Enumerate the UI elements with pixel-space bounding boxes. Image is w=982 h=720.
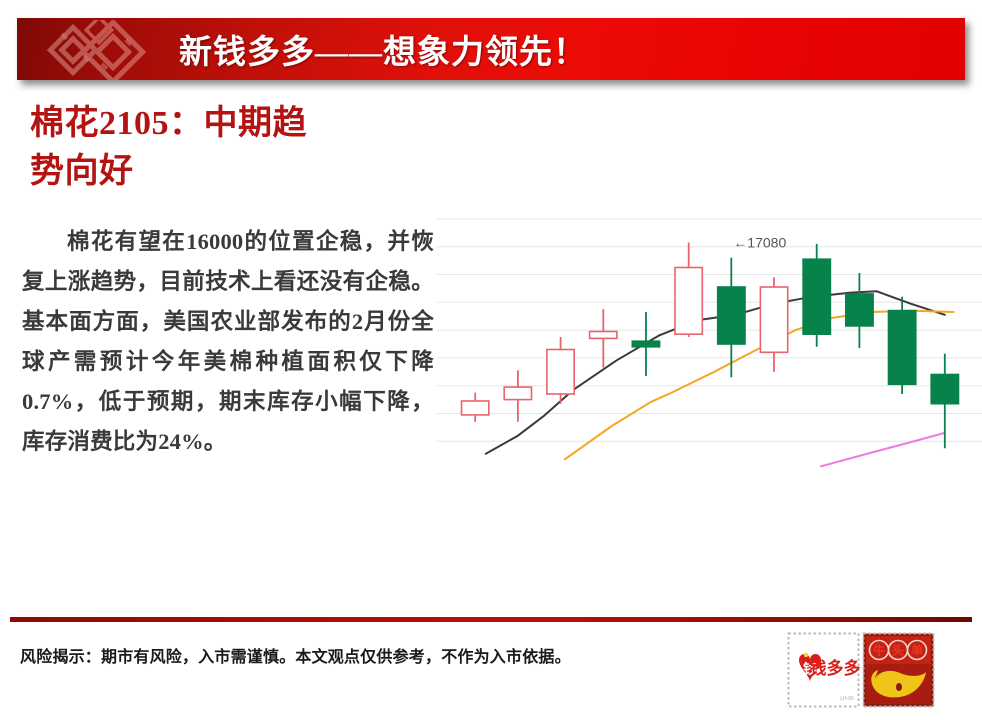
chart-annotation: ←17080 <box>733 235 786 251</box>
candle-body <box>547 350 574 395</box>
footer-stamps: 钱 钱多多 LH-05 牛 头 单 <box>787 632 935 708</box>
candle <box>675 243 702 338</box>
stamp-right-char-1: 牛 <box>873 643 885 658</box>
candle <box>547 337 574 404</box>
candle <box>889 297 916 394</box>
candle-body <box>889 311 916 385</box>
candle <box>718 258 745 378</box>
candlestick-chart: ←17080 <box>437 193 982 498</box>
header-title: 新钱多多——想象力领先！ <box>179 25 587 73</box>
page-title-line-1: 棉花2105：中期趋 <box>30 100 420 148</box>
stamp-right-char-2: 头 <box>892 643 904 658</box>
price-annotation-label: ←17080 <box>733 235 786 251</box>
candle <box>632 312 659 376</box>
candle <box>931 354 958 449</box>
body-paragraph: 棉花有望在16000的位置企稳，并恢复上涨趋势，目前技术上看还没有企稳。基本面方… <box>22 222 434 462</box>
ma-line-ma-long <box>821 433 945 466</box>
stamp-left-corner-text: LH-05 <box>840 696 854 702</box>
candle <box>504 370 531 421</box>
stamp-left-text: 钱多多 <box>810 658 861 678</box>
candle-body <box>504 387 531 400</box>
stamp-right-char-3: 单 <box>911 643 923 658</box>
candle-body <box>803 259 830 334</box>
chart-candles <box>462 243 959 449</box>
candle-body <box>632 341 659 347</box>
page-title: 棉花2105：中期趋 势向好 <box>30 100 420 197</box>
stamp-qianduoduo: 钱 钱多多 LH-05 <box>787 632 860 708</box>
header-banner: 新钱多多——想象力领先！ <box>17 18 965 80</box>
candle <box>803 244 830 347</box>
page-title-line-2: 势向好 <box>30 148 420 196</box>
candle <box>590 309 617 367</box>
candle-body <box>462 401 489 415</box>
candle-body <box>590 332 617 339</box>
footer-divider <box>10 617 972 622</box>
candle <box>462 393 489 422</box>
chinese-knot-icon <box>39 20 161 80</box>
risk-disclaimer: 风险揭示：期市有风险，入市需谨慎。本文观点仅供参考，不作为入市依据。 <box>20 643 571 667</box>
candle-body <box>675 268 702 335</box>
candle-body <box>931 375 958 404</box>
candle-body <box>760 287 787 352</box>
candle-body <box>846 294 873 326</box>
candle-body <box>718 287 745 344</box>
candle <box>846 273 873 348</box>
stamp-niutoudan: 牛 头 单 <box>862 632 935 708</box>
